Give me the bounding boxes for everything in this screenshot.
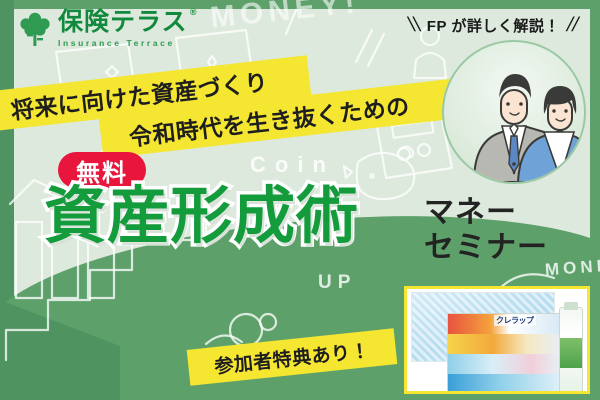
promotional-banner: MONEY! Coin UP MONE 保険テラス® Insurance Ter… (0, 0, 600, 400)
advisors-illustration (438, 40, 586, 180)
seminar-line-1: マネー (424, 196, 548, 231)
two-advisors-illustration (444, 42, 584, 182)
background-left-band (0, 0, 14, 330)
fp-note-text: FP が詳しく解説！ (427, 15, 560, 36)
gift-bottle (559, 307, 583, 394)
fp-note: \\ FP が詳しく解説！ // (409, 14, 578, 37)
gift-box: クレラップ (447, 313, 561, 394)
logo-name-ja-text: 保険テラス (58, 8, 188, 36)
advisors-circle-frame (442, 40, 586, 184)
gift-wrap-brand: クレラップ (494, 315, 536, 326)
doodle-text-up: UP (318, 272, 356, 294)
slash-left-decor: \\ (406, 14, 423, 37)
background-right-band (590, 0, 600, 400)
brand-logo[interactable]: 保険テラス® Insurance Terrace (18, 10, 188, 48)
tree-icon (18, 10, 52, 48)
registered-mark: ® (190, 8, 198, 17)
gift-strip-2 (448, 334, 560, 354)
gift-strip-3 (448, 354, 560, 374)
gift-photo: ROYAL STYLE クレラップ (404, 286, 590, 394)
doodle-text-coin: Coin (250, 152, 335, 178)
page-title: 資産形成術 (44, 186, 359, 248)
logo-name-ja: 保険テラス® (58, 10, 188, 35)
seminar-line-2: セミナー (424, 231, 548, 266)
gift-bottle-band (560, 338, 582, 368)
seminar-subtitle: マネー セミナー (424, 196, 548, 265)
gift-strip-4 (448, 374, 560, 394)
logo-text-block: 保険テラス® Insurance Terrace (58, 10, 188, 48)
doodle-text-money-right: MONE (544, 256, 600, 281)
logo-name-en: Insurance Terrace (58, 39, 188, 48)
